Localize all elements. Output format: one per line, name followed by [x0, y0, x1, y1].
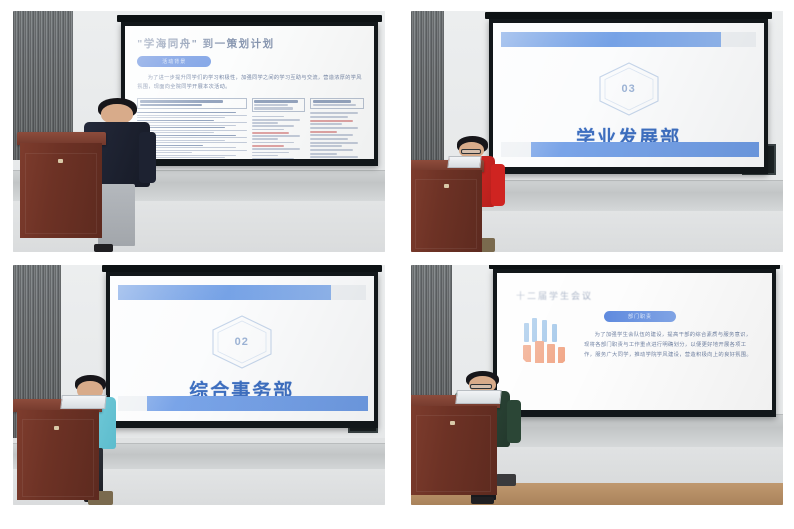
doc-line [310, 112, 358, 114]
slide-bar-bottom [147, 396, 368, 411]
laptop [455, 390, 501, 404]
doc-line [310, 127, 358, 129]
glasses-icon [461, 149, 481, 154]
doc-line [313, 104, 357, 106]
illustration-shape [523, 345, 531, 362]
doc-line [252, 158, 295, 159]
slide-circle-image [516, 311, 574, 369]
doc-line [252, 122, 279, 124]
section-number: 02 [235, 336, 249, 348]
screen-roller [485, 12, 772, 19]
doc-line [313, 100, 352, 102]
doc-line [252, 116, 284, 118]
doc-line [252, 132, 289, 134]
projection-screen: 02 综合事务部 [110, 276, 374, 421]
projection-screen-frame: 03 学业发展部 [489, 19, 768, 173]
doc-line [310, 149, 353, 151]
doc-line [310, 142, 358, 144]
podium-top-right [411, 160, 482, 252]
slide-paragraph: 为了进一步提升同学们的学习积极性，加强同学之间的学习互助与交流，营造浓厚的学风氛… [137, 74, 363, 92]
slide-bar-top-tail [721, 32, 756, 47]
podium-plate [444, 184, 449, 188]
panel-bottom-right: 十二届学生会议 部门职责 [411, 265, 783, 505]
slide-paragraph: 为了加强学生会队伍的建设，提高干部的综合素质与服务意识，现将各部门职责与工作重点… [584, 331, 755, 360]
doc-line [252, 138, 279, 140]
doc-line [252, 119, 300, 121]
head [101, 104, 133, 124]
slide-column-3 [310, 98, 363, 159]
slide-section-divider: 03 学业发展部 [493, 23, 764, 166]
slide-columns [137, 98, 363, 159]
podium-bottom-right [411, 395, 497, 496]
doc-line [252, 125, 295, 127]
doc-line [252, 152, 289, 154]
laptop [61, 395, 107, 409]
doc-line [310, 153, 337, 155]
slide-bar-top-tail [331, 285, 365, 300]
doc-line [310, 134, 353, 136]
photo-collage: "学海同舟" 到一策划计划 活动背景 为了进一步提升同学们的学习积极性，加强同学… [0, 0, 794, 529]
doc-line [310, 145, 342, 147]
illustration-shape [535, 341, 544, 363]
illustration-shape [532, 318, 537, 342]
slide-center-block: 03 学业发展部 [493, 61, 764, 150]
podium-plate [450, 421, 455, 425]
screen-roller [489, 265, 780, 269]
doc-line [252, 148, 300, 150]
arm-right [507, 400, 521, 443]
projection-screen: 十二届学生会议 部门职责 [497, 273, 772, 411]
glasses-icon [470, 384, 492, 389]
doc-line [252, 155, 279, 157]
slide-content: 十二届学生会议 部门职责 [497, 273, 772, 411]
podium-body [411, 406, 497, 496]
shoe [471, 497, 494, 504]
doc-subtable [252, 98, 305, 112]
panel-top-left: "学海同舟" 到一策划计划 活动背景 为了进一步提升同学们的学习积极性，加强同学… [13, 11, 385, 252]
slide-column-2 [252, 98, 305, 159]
podium-body [20, 143, 102, 237]
doc-line [252, 135, 300, 137]
doc-line [310, 131, 337, 133]
podium-body [17, 410, 99, 500]
slide-body: 部门职责 为了加强学生会队伍的建设，提高干部的综合素质与服务意识，现将各部门职责… [516, 311, 755, 369]
illustration-shape [558, 347, 565, 363]
doc-line [310, 120, 353, 122]
panel-top-right: 03 学业发展部 [411, 11, 783, 252]
doc-line [310, 138, 347, 140]
illustration-shape [547, 344, 555, 364]
doc-line [254, 100, 298, 102]
doc-line [310, 156, 358, 158]
slide-bar-bottom [531, 142, 759, 157]
legs [98, 184, 135, 246]
panel-bottom-left: 02 综合事务部 [13, 265, 385, 505]
slide-title: "学海同舟" 到一策划计划 [137, 36, 363, 51]
slide-badge: 部门职责 [604, 311, 676, 322]
slide-bar-top [501, 32, 721, 47]
podium-plate [58, 159, 63, 163]
slide-title: 十二届学生会议 [516, 289, 755, 302]
slide-badge: 活动背景 [137, 56, 211, 67]
doc-line [252, 142, 295, 144]
projection-screen-frame: 十二届学生会议 部门职责 [493, 269, 776, 418]
slide-text-block: 部门职责 为了加强学生会队伍的建设，提高干部的综合素质与服务意识，现将各部门职责… [584, 311, 755, 369]
hexagon-badge: 03 [597, 61, 661, 117]
laptop [448, 156, 483, 168]
illustration-shape [542, 320, 548, 342]
arm-right [491, 164, 505, 206]
illustration-shape [524, 323, 529, 343]
illustration-shape [552, 324, 557, 343]
hexagon-badge: 02 [210, 314, 274, 370]
doc-line [310, 123, 342, 125]
podium-top-left [20, 132, 102, 238]
section-number: 03 [621, 83, 635, 95]
podium-bottom-left [17, 399, 99, 500]
slide-section-divider: 02 综合事务部 [110, 276, 374, 421]
podium-plate [54, 426, 59, 430]
podium-body [411, 170, 482, 252]
slide-center-block: 02 综合事务部 [110, 314, 374, 403]
doc-line [252, 129, 284, 131]
bag [496, 474, 516, 486]
doc-line [310, 116, 347, 118]
screen-roller [102, 265, 382, 272]
doc-line [252, 145, 284, 147]
projection-screen: 03 学业发展部 [493, 23, 764, 166]
shoe [94, 244, 113, 252]
doc-line [254, 107, 293, 109]
arm-right [139, 132, 155, 183]
slide-bar-top [118, 285, 331, 300]
doc-line [254, 104, 288, 106]
screen-roller [117, 15, 382, 22]
projection-screen-frame: 02 综合事务部 [106, 272, 378, 428]
doc-subtable [310, 98, 363, 109]
